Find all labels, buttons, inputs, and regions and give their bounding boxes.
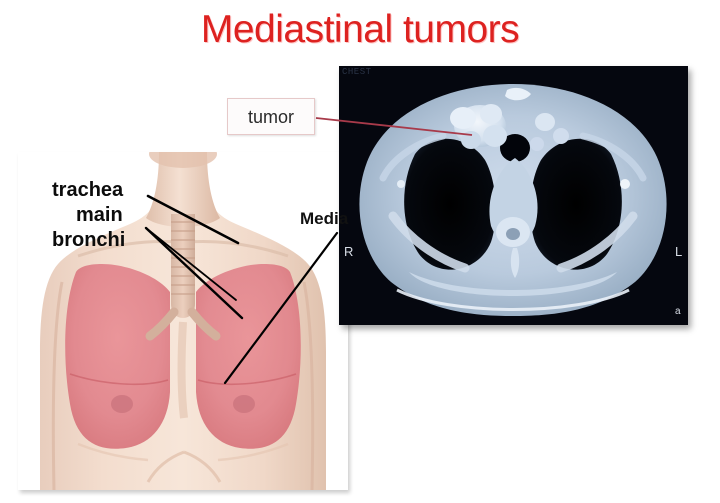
ct-orientation-marker-left: L bbox=[675, 244, 682, 259]
page-title: Mediastinal tumors bbox=[0, 8, 720, 52]
label-main-bronchi-line1: main bbox=[76, 203, 123, 228]
ct-scan-image: CHEST R L a bbox=[339, 66, 688, 325]
ct-panel-label-a: a bbox=[675, 306, 681, 317]
tumor-callout-label: tumor bbox=[228, 107, 314, 128]
tumor-callout-box[interactable]: tumor bbox=[227, 98, 315, 135]
label-mediastinum: Media bbox=[300, 209, 348, 229]
ct-corner-text: CHEST bbox=[342, 67, 372, 77]
slide-canvas: Mediastinal tumors bbox=[0, 0, 720, 503]
ct-scan-artwork bbox=[339, 66, 688, 325]
ct-orientation-marker-right: R bbox=[344, 244, 353, 259]
label-trachea: trachea bbox=[52, 178, 123, 203]
label-main-bronchi-line2: bronchi bbox=[52, 228, 125, 253]
